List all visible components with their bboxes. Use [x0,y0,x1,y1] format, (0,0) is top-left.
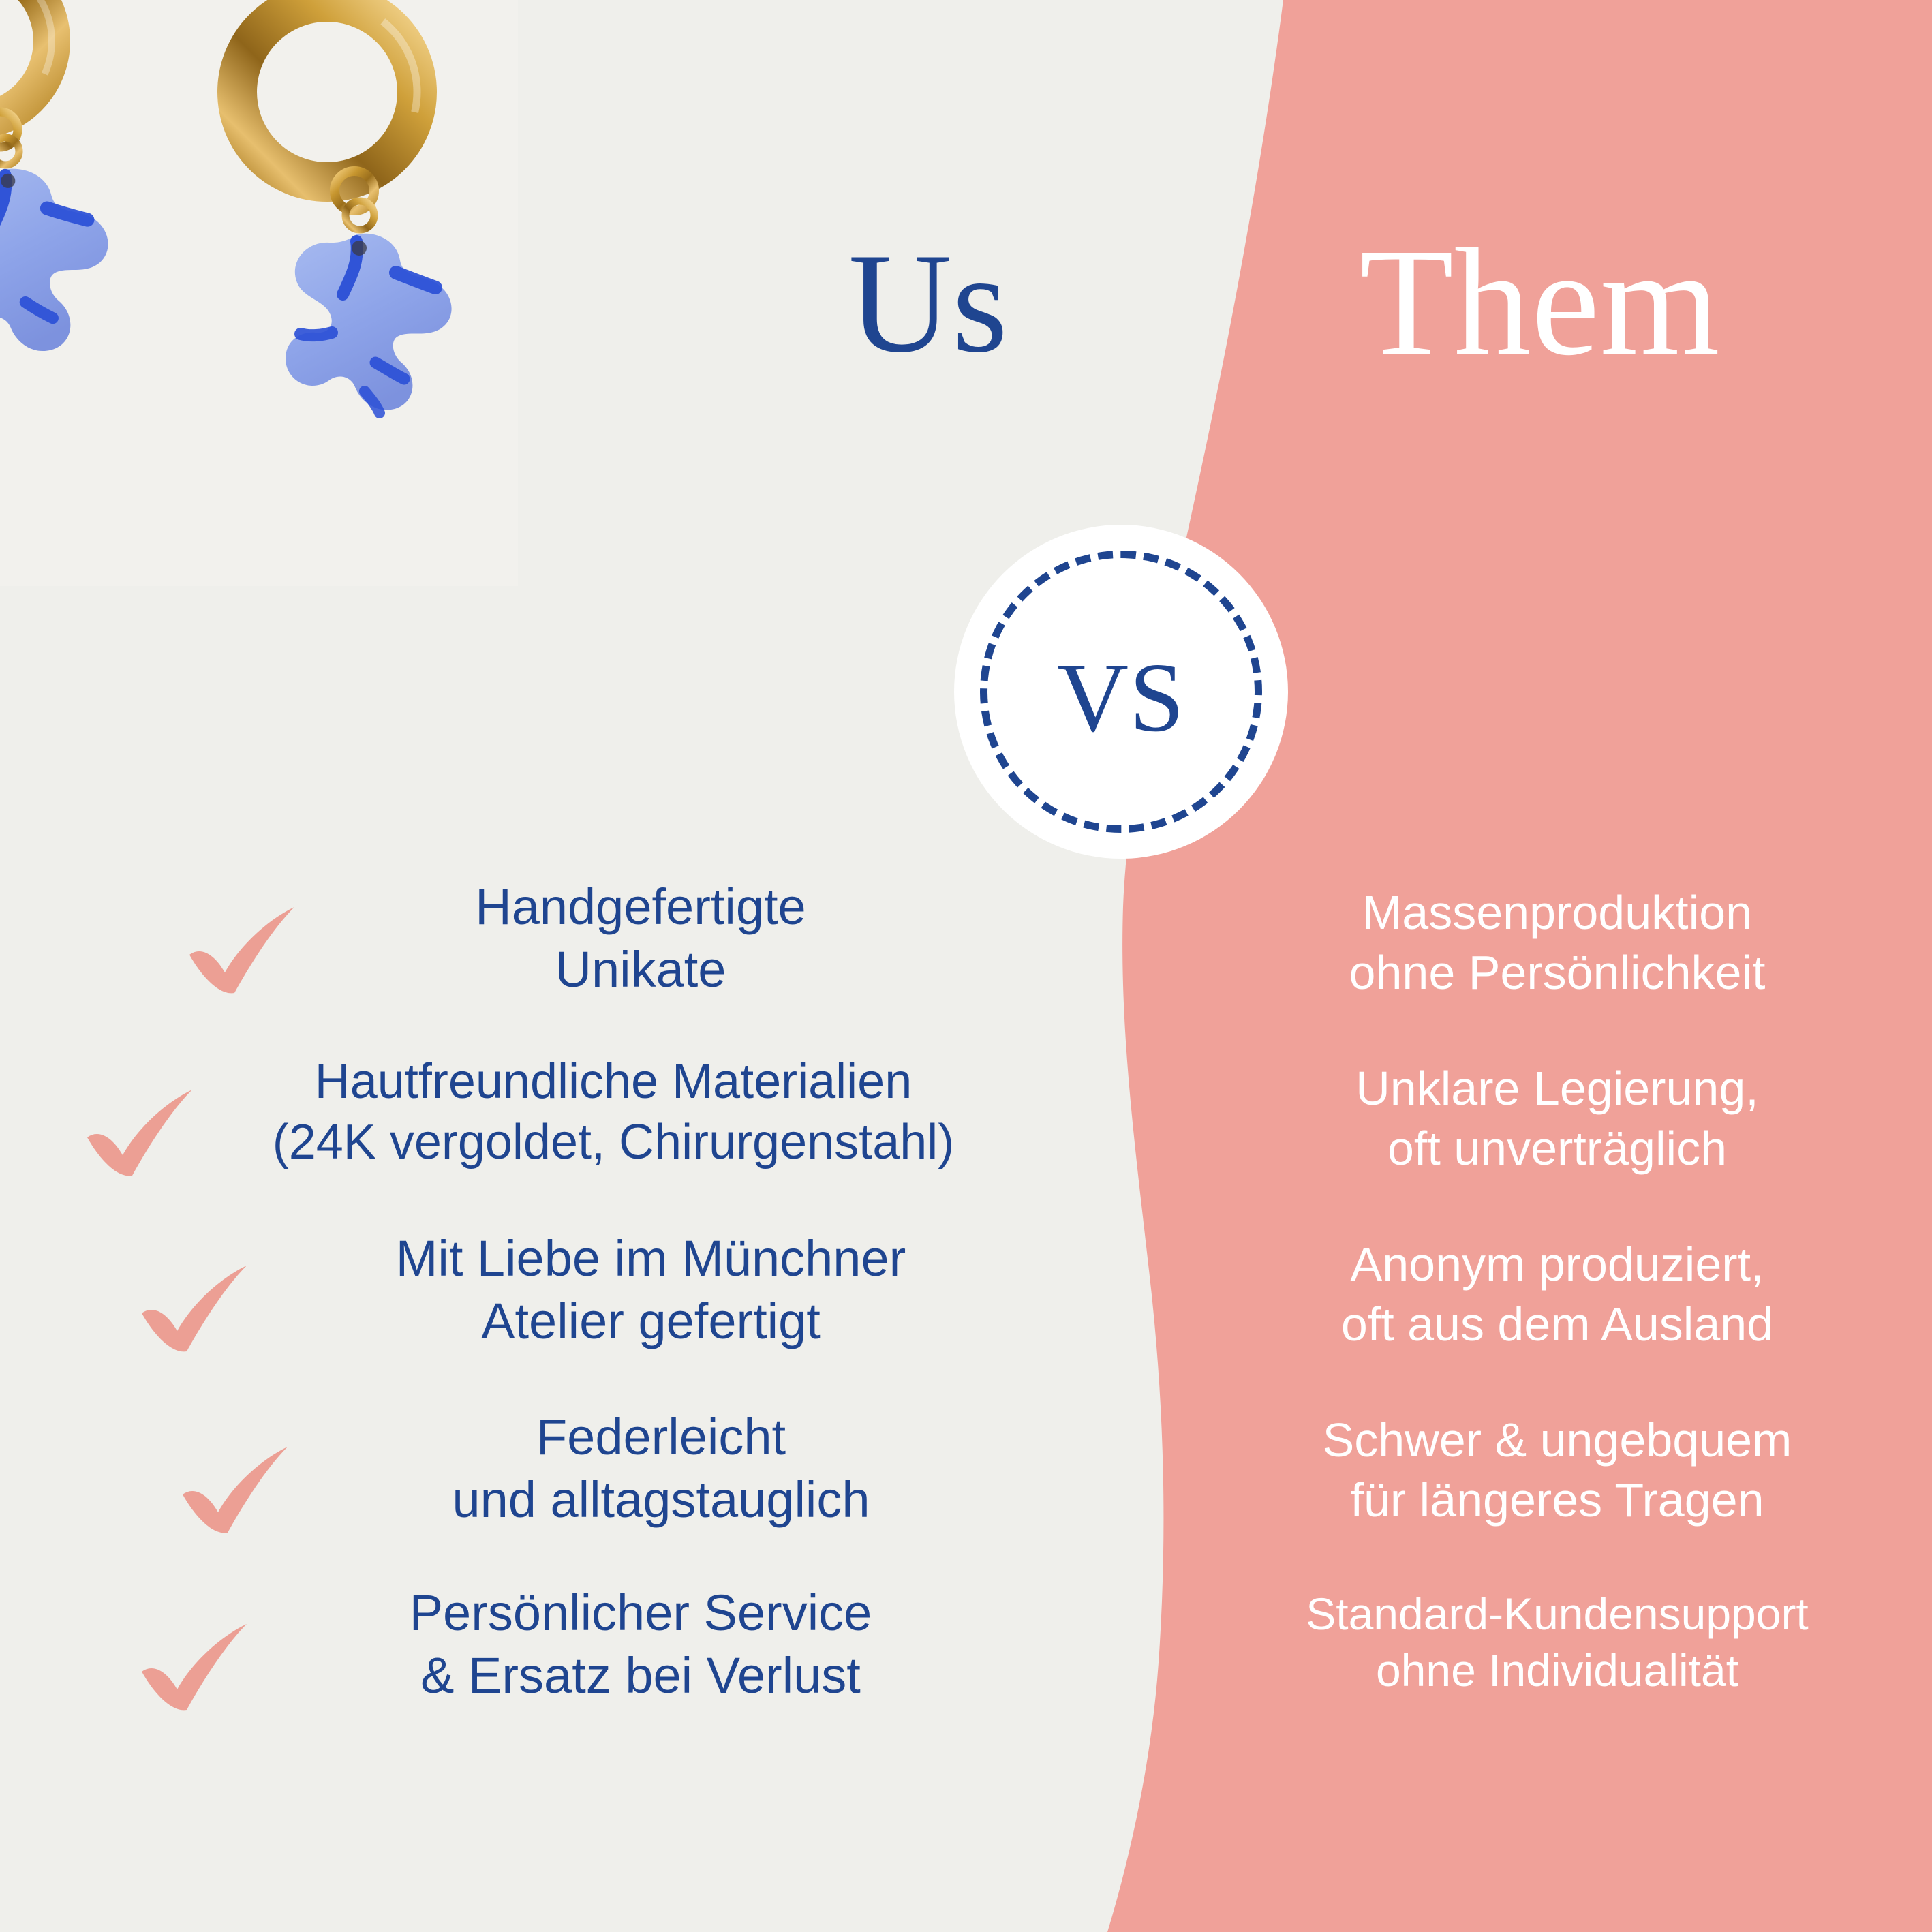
check-icon [129,1255,259,1364]
them-list-item-text: Schwer & ungebquem für längeres Tragen [1206,1410,1908,1530]
us-list-item-line2: (24K vergoldet, Chirurgenstahl) [143,1112,1084,1173]
us-list-item-text: Mit Liebe im Münchner Atelier gefertigt [116,1227,1084,1353]
us-heading: Us [848,232,1008,375]
vs-badge: VS [954,525,1288,859]
them-list-item-line2: ohne Individualität [1206,1642,1908,1699]
them-list-item: Standard-Kundensupport ohne Individualit… [1206,1586,1908,1768]
them-list-item: Unklare Legierung, oft unverträglich [1206,1058,1908,1241]
us-list-item-line1: Federleicht [239,1406,1084,1469]
product-photo [0,0,518,586]
them-list-item: Anonym produziert, oft aus dem Ausland [1206,1234,1908,1417]
us-list-item-line2: Atelier gefertigt [218,1290,1084,1353]
us-list-item-line1: Handgefertigte [198,876,1084,938]
them-list-item-line2: oft aus dem Ausland [1206,1294,1908,1354]
us-list-item-line2: und alltagstauglich [239,1469,1084,1531]
us-list-item-line1: Persönlicher Service [198,1582,1084,1644]
us-list-item: Hautfreundliche Materialien (24K vergold… [116,1052,1084,1234]
us-list-item: Federleicht und alltagstauglich [116,1406,1084,1589]
us-list-item-line1: Hautfreundliche Materialien [143,1052,1084,1112]
comparison-graphic: Us Them VS Handgefertigte Unikate Hautfr… [0,0,1932,1932]
them-heading: Them [1360,225,1720,379]
us-list-item-text: Hautfreundliche Materialien (24K vergold… [116,1052,1084,1174]
us-list-item-line2: Unikate [198,938,1084,1001]
them-list-item-line1: Schwer & ungebquem [1206,1410,1908,1470]
them-list-item-line2: für längeres Tragen [1206,1470,1908,1530]
us-list-item: Persönlicher Service & Ersatz bei Verlus… [116,1582,1084,1764]
us-list-item: Mit Liebe im Münchner Atelier gefertigt [116,1227,1084,1410]
vs-label: VS [1057,649,1184,748]
them-list-item-line1: Standard-Kundensupport [1206,1586,1908,1642]
them-list-item-line2: ohne Persönlichkeit [1206,942,1908,1002]
check-icon [177,896,307,1005]
us-list-item: Handgefertigte Unikate [116,876,1084,1058]
them-list-item-line1: Massenproduktion [1206,883,1908,942]
them-list-item-line1: Anonym produziert, [1206,1234,1908,1294]
them-list-item: Schwer & ungebquem für längeres Tragen [1206,1410,1908,1593]
them-list-item-line1: Unklare Legierung, [1206,1058,1908,1118]
us-list-item-line2: & Ersatz bei Verlust [198,1644,1084,1707]
them-list-item: Massenproduktion ohne Persönlichkeit [1206,883,1908,1065]
us-list-item-text: Persönlicher Service & Ersatz bei Verlus… [116,1582,1084,1707]
them-list-item-text: Massenproduktion ohne Persönlichkeit [1206,883,1908,1002]
check-icon [75,1079,204,1188]
check-icon [129,1613,259,1722]
them-list-item-text: Standard-Kundensupport ohne Individualit… [1206,1586,1908,1699]
them-list-item-line2: oft unverträglich [1206,1118,1908,1178]
them-list-item-text: Unklare Legierung, oft unverträglich [1206,1058,1908,1178]
them-list-item-text: Anonym produziert, oft aus dem Ausland [1206,1234,1908,1354]
us-list-item-line1: Mit Liebe im Münchner [218,1227,1084,1290]
check-icon [170,1436,300,1545]
